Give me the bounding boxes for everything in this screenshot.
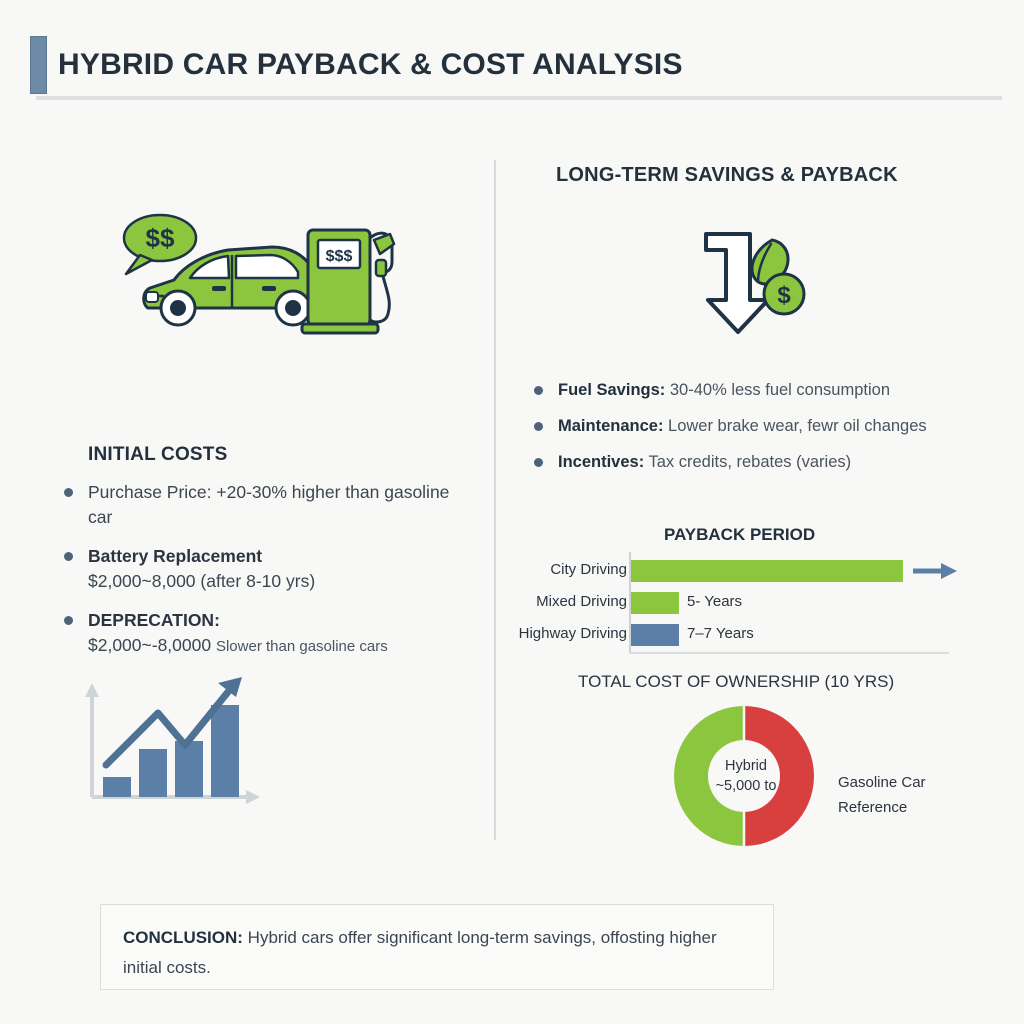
list-item: Maintenance: Lower brake wear, fewr oil … (532, 408, 992, 444)
payback-period-bar-chart: City Driving Mixed Driving 5- Years High… (505, 552, 975, 657)
total-cost-of-ownership-chart-title: TOTAL COST OF OWNERSHIP (10 YRS) (578, 672, 894, 692)
bullet-line2: $2,000~-8,0000 (88, 635, 216, 655)
bullet-text: Purchase Price: (88, 482, 212, 502)
dollar-sign-label: $$ (146, 223, 175, 253)
initial-costs-list: Purchase Price: +20-30% higher than gaso… (62, 480, 462, 673)
chart-x-axis (629, 652, 949, 654)
savings-list: Fuel Savings: 30-40% less fuel consumpti… (532, 372, 992, 480)
infographic-page: HYBRID CAR PAYBACK & COST ANALYSIS $$ (0, 0, 1024, 1024)
initial-costs-heading: INITIAL COSTS (88, 444, 227, 466)
bar-highway-driving (631, 624, 679, 646)
conclusion-text: CONCLUSION: Hybrid cars offer significan… (123, 923, 753, 983)
long-term-savings-heading: LONG-TERM SAVINGS & PAYBACK (556, 164, 898, 187)
bar-row: City Driving (505, 558, 975, 584)
hybrid-car-at-gas-pump-icon: $$ $$$ (112, 200, 412, 340)
bullet-strong: Battery Replacement (88, 546, 262, 566)
bar-label: Highway Driving (519, 625, 627, 642)
rising-bar-chart-with-trend-arrow-icon (70, 665, 270, 825)
list-item: Fuel Savings: 30-40% less fuel consumpti… (532, 372, 992, 408)
bullet-note: Slower than gasoline cars (216, 638, 388, 655)
bullet-strong: DEPRECATION: (88, 610, 220, 630)
bar-row: Highway Driving 7–7 Years (505, 622, 975, 648)
list-item: Incentives: Tax credits, rebates (varies… (532, 444, 992, 480)
bullet-rest: 30-40% less fuel consumption (665, 381, 890, 399)
conclusion-box: CONCLUSION: Hybrid cars offer significan… (100, 904, 774, 990)
page-title: HYBRID CAR PAYBACK & COST ANALYSIS (58, 40, 958, 90)
svg-text:$$$: $$$ (326, 248, 353, 265)
column-divider (494, 160, 496, 840)
title-accent-bar (30, 36, 47, 94)
donut-center-label: Hybrid ~5,000 to (700, 756, 792, 796)
bar-row: Mixed Driving 5- Years (505, 590, 975, 616)
bar-mixed-driving (631, 592, 679, 614)
svg-text:$: $ (777, 282, 791, 309)
list-item: Battery Replacement $2,000~8,000 (after … (62, 544, 462, 594)
bullet-strong: Maintenance: (558, 417, 663, 435)
bar-value: 7–7 Years (687, 625, 754, 642)
bullet-line2: $2,000~8,000 (after 8-10 yrs) (88, 571, 315, 591)
bullet-strong: Fuel Savings: (558, 381, 665, 399)
donut-center-line2: ~5,000 to (700, 776, 792, 796)
payback-period-chart-title: PAYBACK PERIOD (664, 525, 815, 545)
donut-legend-line1: Gasoline Car (838, 770, 988, 795)
bullet-strong: Incentives: (558, 453, 644, 471)
down-arrow-with-leaf-and-dollar-coin-icon: $ (688, 218, 818, 338)
bar-label: Mixed Driving (536, 593, 627, 610)
bullet-rest: Tax credits, rebates (varies) (644, 453, 851, 471)
bar-label: City Driving (550, 561, 627, 578)
bar-city-driving (631, 560, 903, 582)
list-item: DEPRECATION: $2,000~-8,0000 Slower than … (62, 608, 462, 659)
conclusion-label: CONCLUSION: (123, 928, 243, 947)
donut-legend-line2: Reference (838, 795, 988, 820)
header-divider-rule (36, 96, 1002, 100)
donut-center-line1: Hybrid (700, 756, 792, 776)
donut-legend: Gasoline Car Reference (838, 770, 988, 820)
arrow-right-icon (913, 560, 957, 582)
bullet-rest: Lower brake wear, fewr oil changes (663, 417, 926, 435)
list-item: Purchase Price: +20-30% higher than gaso… (62, 480, 462, 530)
bar-value: 5- Years (687, 593, 742, 610)
